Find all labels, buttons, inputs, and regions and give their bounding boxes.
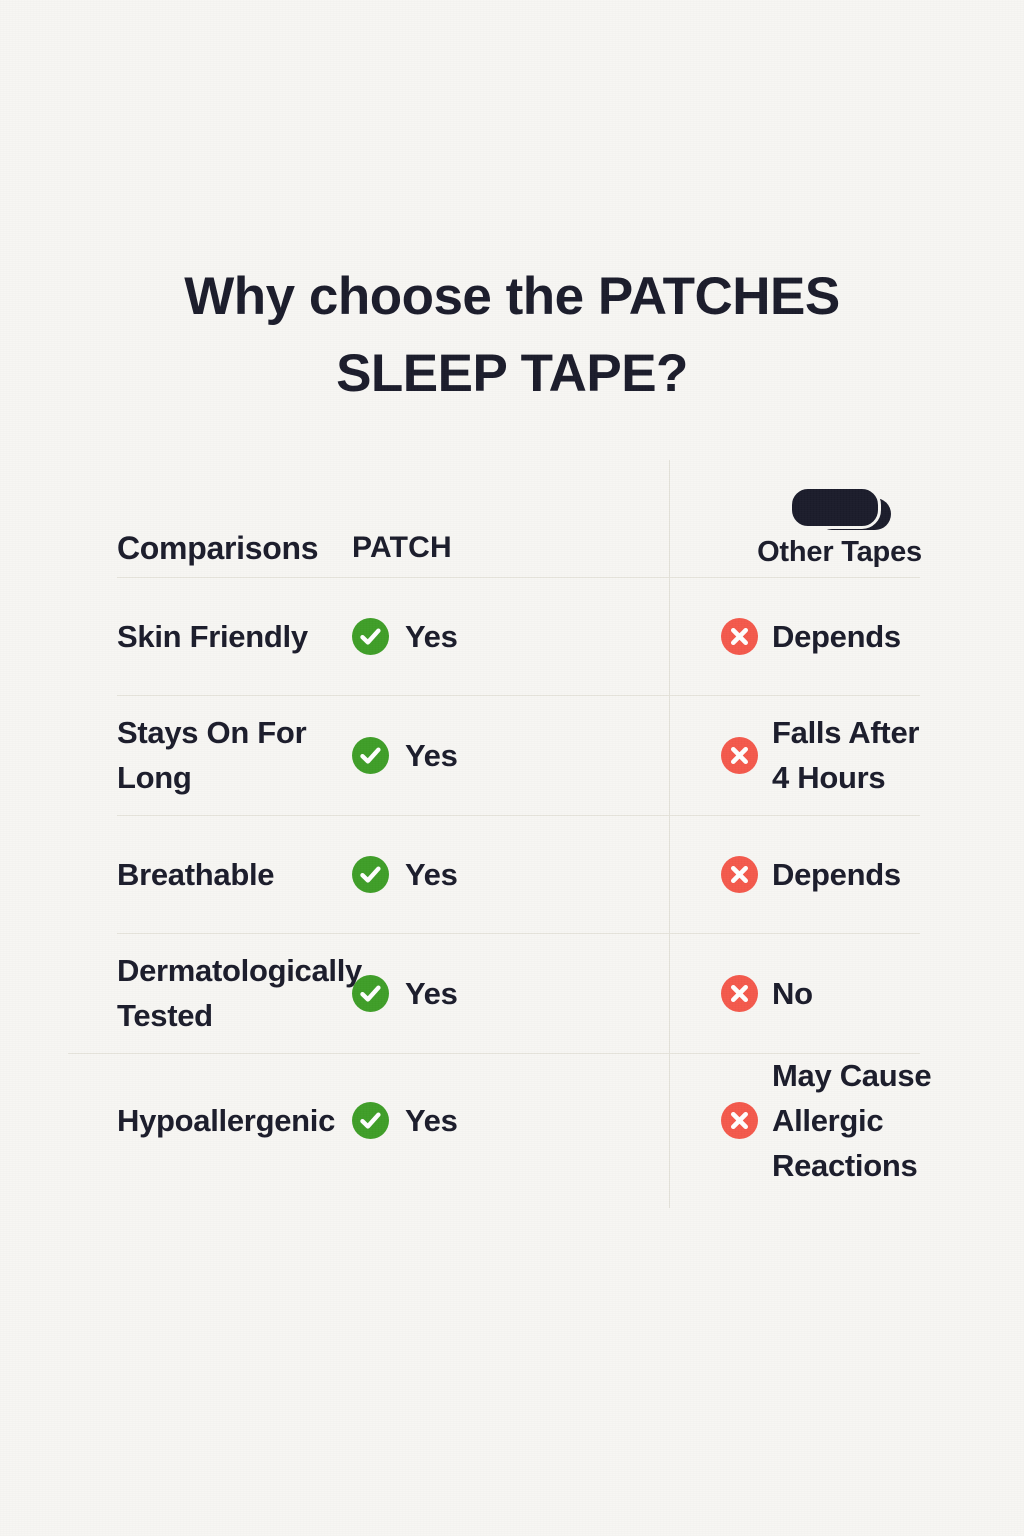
row-other-cell: Depends xyxy=(669,852,1024,897)
row-patch-cell: Yes xyxy=(352,614,669,659)
table-row: Stays On For Long Yes Fa xyxy=(0,695,1024,815)
header-label-patch: PATCH xyxy=(352,531,452,565)
feature-label: Stays On For Long xyxy=(117,715,306,795)
other-value: Falls After 4 Hours xyxy=(772,710,919,800)
row-feature-cell: Hypoallergenic xyxy=(0,1098,352,1143)
comparison-infographic: Why choose the PATCHES SLEEP TAPE? Compa… xyxy=(0,0,1024,1536)
table-row: Hypoallergenic Yes May C xyxy=(0,1053,1024,1188)
row-feature-cell: Breathable xyxy=(0,852,352,897)
check-circle-icon xyxy=(352,1102,389,1139)
feature-label: Dermatologically Tested xyxy=(117,953,362,1033)
row-patch-cell: Yes xyxy=(352,852,669,897)
header-cell-patch: PATCH xyxy=(352,531,669,569)
page-title: Why choose the PATCHES SLEEP TAPE? xyxy=(0,258,1024,412)
row-patch-cell: Yes xyxy=(352,733,669,778)
row-divider xyxy=(117,933,920,934)
other-value: Depends xyxy=(772,852,901,897)
row-feature-cell: Skin Friendly xyxy=(0,614,352,659)
row-divider xyxy=(117,577,920,578)
table-row: Dermatologically Tested Yes xyxy=(0,933,1024,1053)
table-row: Skin Friendly Yes Depend xyxy=(0,577,1024,695)
feature-label: Breathable xyxy=(117,857,274,892)
x-circle-icon xyxy=(721,618,758,655)
table-row: Breathable Yes Depends xyxy=(0,815,1024,933)
patch-value: Yes xyxy=(405,614,458,659)
feature-label: Skin Friendly xyxy=(117,619,308,654)
column-divider-vertical xyxy=(669,460,670,1208)
row-divider xyxy=(68,1053,920,1054)
x-circle-icon xyxy=(721,737,758,774)
patch-value: Yes xyxy=(405,1098,458,1143)
x-circle-icon xyxy=(721,1102,758,1139)
feature-label: Hypoallergenic xyxy=(117,1103,335,1138)
row-other-cell: No xyxy=(669,971,1024,1016)
x-circle-icon xyxy=(721,975,758,1012)
patch-value: Yes xyxy=(405,852,458,897)
check-circle-icon xyxy=(352,975,389,1012)
other-value: May Cause Allergic Reactions xyxy=(772,1053,931,1188)
check-circle-icon xyxy=(352,618,389,655)
row-feature-cell: Dermatologically Tested xyxy=(0,948,352,1038)
other-value: No xyxy=(772,971,813,1016)
check-circle-icon xyxy=(352,737,389,774)
patch-value: Yes xyxy=(405,733,458,778)
row-patch-cell: Yes xyxy=(352,971,669,1016)
row-divider xyxy=(117,815,920,816)
row-other-cell: Falls After 4 Hours xyxy=(669,710,1024,800)
row-other-cell: Depends xyxy=(669,614,1024,659)
header-cell-feature: Comparisons xyxy=(0,530,352,569)
tape-icon-front-strip xyxy=(789,486,881,529)
stacked-tape-icon xyxy=(788,486,892,532)
check-circle-icon xyxy=(352,856,389,893)
table-header-row: Comparisons PATCH Other Tapes xyxy=(0,455,1024,577)
row-feature-cell: Stays On For Long xyxy=(0,710,352,800)
comparison-table: Comparisons PATCH Other Tapes Skin Frien… xyxy=(0,455,1024,1188)
row-other-cell: May Cause Allergic Reactions xyxy=(669,1053,1024,1188)
header-label-other-tapes: Other Tapes xyxy=(757,536,922,569)
header-label-comparisons: Comparisons xyxy=(117,530,318,566)
row-divider xyxy=(117,695,920,696)
header-cell-other-tapes: Other Tapes xyxy=(669,486,1024,569)
x-circle-icon xyxy=(721,856,758,893)
other-value: Depends xyxy=(772,614,901,659)
patch-value: Yes xyxy=(405,971,458,1016)
row-patch-cell: Yes xyxy=(352,1098,669,1143)
